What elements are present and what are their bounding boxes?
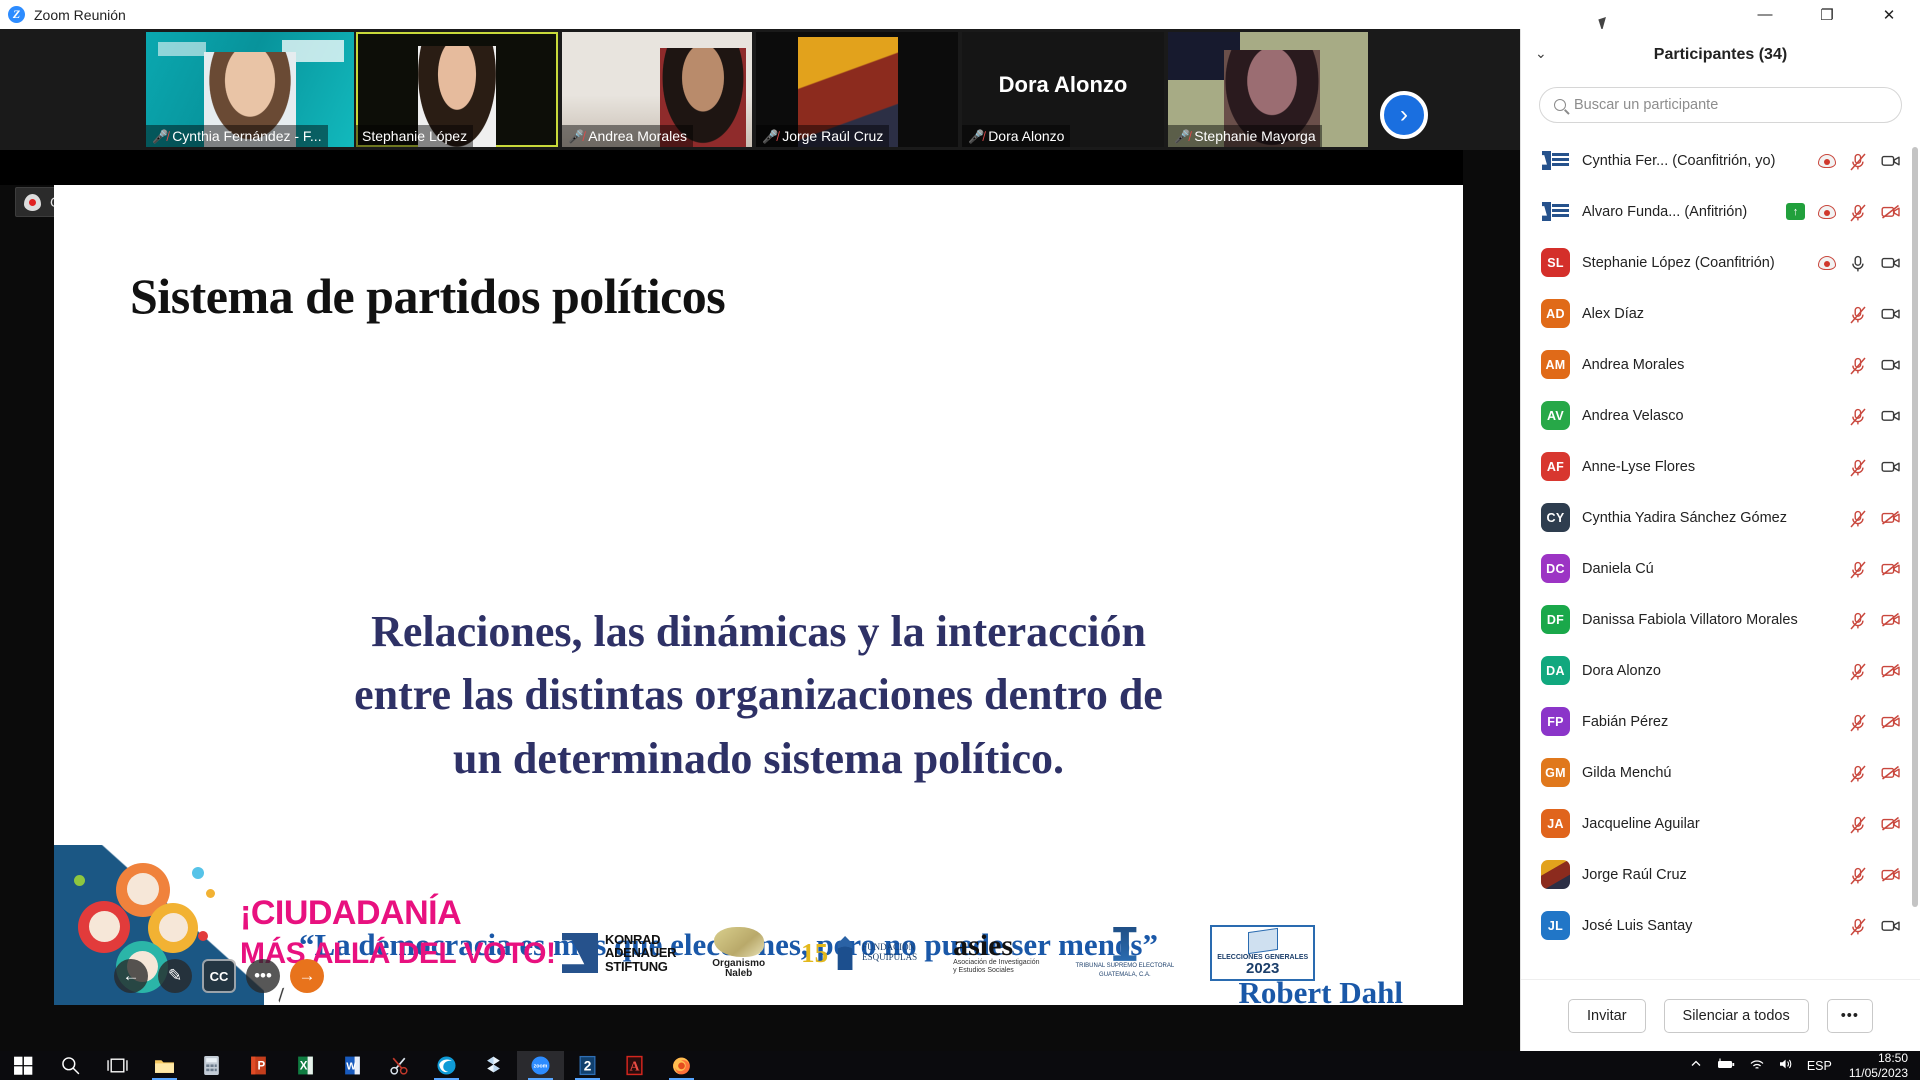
mic-muted-icon[interactable] <box>1849 510 1868 526</box>
camera-on-icon[interactable] <box>1881 255 1900 271</box>
participant-name: Alex Díaz <box>1582 306 1837 322</box>
participant-avatar: DC <box>1541 554 1570 583</box>
camera-off-icon[interactable] <box>1881 612 1900 628</box>
calculator-button[interactable] <box>188 1051 235 1080</box>
participant-name: Stephanie López (Coanfitrión) <box>1582 255 1806 271</box>
invite-button[interactable]: Invitar <box>1568 999 1646 1033</box>
recording-status-icon <box>1818 153 1836 168</box>
excel-icon: X <box>295 1055 316 1076</box>
mic-muted-icon[interactable] <box>1849 561 1868 577</box>
campaign-line-1: ¡CIUDADANÍA <box>240 894 461 933</box>
participant-avatar: AM <box>1541 350 1570 379</box>
esquipulas-line-1: FUNDACIÓN <box>862 942 915 952</box>
close-button[interactable]: ✕ <box>1858 0 1920 29</box>
tile-name-label: 🎤̸ Stephanie Mayorga <box>1168 125 1322 147</box>
participant-name: Fabián Pérez <box>1582 714 1837 730</box>
annotate-pen-button[interactable]: ✎ <box>158 959 192 993</box>
participant-avatar: FP <box>1541 707 1570 736</box>
participant-name: Danissa Fabiola Villatoro Morales <box>1582 612 1837 628</box>
participant-status-icons <box>1818 255 1900 271</box>
language-indicator[interactable]: ESP <box>1807 1059 1832 1073</box>
esquipulas-line-2: ESQUIPULAS <box>862 952 917 962</box>
esquipulas-anniversary-number: 15 <box>801 938 828 969</box>
clock-date: 11/05/2023 <box>1849 1066 1908 1080</box>
meeting-area: 🎤̸ Cynthia Fernández - F... Stephanie Ló… <box>0 29 1520 1051</box>
participant-avatar: AV <box>1541 401 1570 430</box>
camera-on-icon[interactable] <box>1881 153 1900 169</box>
camera-off-icon[interactable] <box>1881 765 1900 781</box>
tile-name-text: Andrea Morales <box>588 128 687 144</box>
tribunal-supremo-electoral-logo: TRIBUNAL SUPREMO ELECTORAL GUATEMALA, C.… <box>1075 925 1174 981</box>
scissors-icon <box>389 1055 410 1076</box>
kas-line-2: ADENAUER <box>605 946 676 959</box>
app-2-button[interactable]: 2 <box>564 1051 611 1080</box>
wifi-icon[interactable] <box>1749 1057 1765 1074</box>
mute-all-button[interactable]: Silenciar a todos <box>1664 999 1809 1033</box>
tile-name-label: 🎤̸ Cynthia Fernández - F... <box>146 125 328 147</box>
search-icon <box>60 1055 81 1076</box>
participant-row[interactable]: GMGilda Menchú <box>1521 747 1920 798</box>
participant-avatar: DA <box>1541 656 1570 685</box>
participant-name: José Luis Santay <box>1582 918 1837 934</box>
zoom-icon: zoom <box>530 1055 551 1076</box>
excel-button[interactable]: X <box>282 1051 329 1080</box>
tile-name-label: 🎤̸ Jorge Raúl Cruz <box>756 125 889 147</box>
svg-text:X: X <box>300 1061 308 1073</box>
word-button[interactable]: W <box>329 1051 376 1080</box>
mic-muted-icon: 🎤̸ <box>1174 130 1190 143</box>
filmstrip-next-button[interactable]: › <box>1380 91 1428 139</box>
participant-avatar: GM <box>1541 758 1570 787</box>
search-button[interactable] <box>47 1051 94 1080</box>
participant-status-icons <box>1818 153 1900 169</box>
slide-title: Sistema de partidos políticos <box>130 267 725 325</box>
kas-mark-icon <box>562 933 598 973</box>
mic-muted-icon[interactable] <box>1849 204 1868 220</box>
recording-status-icon <box>1818 255 1836 270</box>
number-2-icon: 2 <box>577 1055 598 1076</box>
mic-muted-icon: 🎤̸ <box>568 130 584 143</box>
participant-avatar: SL <box>1541 248 1570 277</box>
tile-name-text: Stephanie Mayorga <box>1194 128 1315 144</box>
start-button[interactable] <box>0 1051 47 1080</box>
dropbox-button[interactable] <box>470 1051 517 1080</box>
next-slide-button[interactable]: → <box>290 959 324 993</box>
tile-background-logo-left <box>158 42 206 56</box>
participant-name: Jorge Raúl Cruz <box>1582 867 1837 883</box>
tile-name-label: 🎤̸ Andrea Morales <box>562 125 693 147</box>
participant-name: Cynthia Yadira Sánchez Gómez <box>1582 510 1837 526</box>
battery-icon[interactable] <box>1716 1057 1736 1074</box>
video-tile-cynthia-fernandez[interactable]: 🎤̸ Cynthia Fernández - F... <box>146 32 354 147</box>
asies-line-2: y Estudios Sociales <box>953 967 1039 975</box>
camera-off-icon[interactable] <box>1881 663 1900 679</box>
elecciones-year: 2023 <box>1217 961 1308 976</box>
more-options-button[interactable]: ••• <box>246 959 280 993</box>
asies-logo: asies Asociación de Investigación y Estu… <box>953 925 1039 981</box>
participant-row[interactable]: DCDaniela Cú <box>1521 543 1920 594</box>
participant-status-icons <box>1849 816 1900 832</box>
participant-avatar: CY <box>1541 503 1570 532</box>
participant-status-icons <box>1849 714 1900 730</box>
participant-avatar: AD <box>1541 299 1570 328</box>
participants-list[interactable]: Cynthia Fer... (Coanfitrión, yo) Alvaro … <box>1521 135 1920 979</box>
volume-icon[interactable] <box>1778 1057 1794 1074</box>
mic-muted-icon[interactable] <box>1849 714 1868 730</box>
participant-name: Jacqueline Aguilar <box>1582 816 1837 832</box>
asies-wordmark: asies <box>953 932 1039 959</box>
dropbox-icon <box>483 1055 504 1076</box>
participant-status-icons <box>1849 612 1900 628</box>
video-filmstrip: 🎤̸ Cynthia Fernández - F... Stephanie Ló… <box>0 29 1520 150</box>
zoom-logo-icon: Z <box>8 6 25 23</box>
firefox-button[interactable] <box>658 1051 705 1080</box>
camera-off-icon[interactable] <box>1881 714 1900 730</box>
firefox-icon <box>671 1055 692 1076</box>
mic-muted-icon[interactable] <box>1849 816 1868 832</box>
participant-avatar: JL <box>1541 911 1570 940</box>
ballot-box-icon <box>1248 928 1278 954</box>
participant-name: Gilda Menchú <box>1582 765 1837 781</box>
video-tile-stephanie-lopez[interactable]: Stephanie López <box>356 32 558 147</box>
participants-panel-footer: Invitar Silenciar a todos ••• <box>1521 979 1920 1051</box>
powerpoint-icon: P <box>248 1055 269 1076</box>
participant-row[interactable]: Jorge Raúl Cruz <box>1521 849 1920 900</box>
tile-name-text: Dora Alonzo <box>988 128 1064 144</box>
participants-panel: ⌄ Participantes (34) Cynthia Fer... (Coa… <box>1520 29 1920 1051</box>
windows-taskbar: PXWzoom2A ESP 18:50 11/05/2023 <box>0 1051 1920 1080</box>
tse-line-1: TRIBUNAL SUPREMO ELECTORAL <box>1075 963 1174 970</box>
chevron-down-icon[interactable]: ⌄ <box>1535 45 1547 62</box>
participant-avatar <box>1541 146 1570 175</box>
participant-row[interactable]: Cynthia Fer... (Coanfitrión, yo) <box>1521 135 1920 186</box>
participant-avatar: DF <box>1541 605 1570 634</box>
back-arrow-button[interactable]: ← <box>114 959 148 993</box>
participant-status-icons <box>1849 867 1900 883</box>
tile-name-text: Cynthia Fernández - F... <box>172 128 321 144</box>
tile-name-label: Stephanie López <box>356 125 473 147</box>
asies-line-1: Asociación de Investigación <box>953 959 1039 967</box>
camera-off-icon[interactable] <box>1881 867 1900 883</box>
participant-row[interactable]: AMAndrea Morales <box>1521 339 1920 390</box>
participant-status-icons <box>1849 765 1900 781</box>
shared-screen-slide[interactable]: Sistema de partidos políticos Relaciones… <box>54 185 1463 1005</box>
window-title: Zoom Reunión <box>34 7 126 23</box>
svg-text:P: P <box>257 1061 265 1073</box>
acrobat-button[interactable]: A <box>611 1051 658 1080</box>
participant-search-box[interactable] <box>1539 87 1902 123</box>
camera-on-icon[interactable] <box>1881 459 1900 475</box>
mic-muted-icon[interactable] <box>1849 306 1868 322</box>
windows-logo-icon <box>13 1055 34 1076</box>
mic-muted-icon: 🎤̸ <box>968 130 984 143</box>
video-tile-stephanie-mayorga[interactable]: 🎤̸ Stephanie Mayorga <box>1168 32 1368 147</box>
participant-name: Andrea Morales <box>1582 357 1837 373</box>
show-hidden-icons[interactable] <box>1689 1057 1703 1074</box>
participant-status-icons: ↑ <box>1786 203 1900 220</box>
search-input[interactable] <box>1574 97 1887 113</box>
participant-status-icons <box>1849 408 1900 424</box>
participants-scrollbar[interactable] <box>1912 147 1918 907</box>
camera-on-icon[interactable] <box>1881 306 1900 322</box>
tse-mark-icon <box>1108 927 1142 961</box>
tile-display-name: Dora Alonzo <box>962 72 1164 98</box>
system-tray: ESP 18:50 11/05/2023 <box>1689 1051 1920 1080</box>
participant-status-icons <box>1849 357 1900 373</box>
slide-body: Relaciones, las dinámicas y la interacci… <box>54 600 1463 790</box>
mic-muted-icon[interactable] <box>1849 918 1868 934</box>
acrobat-icon: A <box>624 1055 645 1076</box>
camera-off-icon[interactable] <box>1881 204 1900 220</box>
participant-row[interactable]: DFDanissa Fabiola Villatoro Morales <box>1521 594 1920 645</box>
svg-text:zoom: zoom <box>534 1064 548 1070</box>
edge-icon <box>436 1055 457 1076</box>
participant-status-icons <box>1849 306 1900 322</box>
snipping-tool-button[interactable] <box>376 1051 423 1080</box>
participant-row[interactable]: Alvaro Funda... (Anfitrión)↑ <box>1521 186 1920 237</box>
tile-name-text: Stephanie López <box>362 128 467 144</box>
camera-on-icon[interactable] <box>1881 918 1900 934</box>
camera-off-icon[interactable] <box>1881 510 1900 526</box>
window-controls: — ❐ ✕ <box>1734 0 1920 29</box>
participant-status-icons <box>1849 663 1900 679</box>
word-icon: W <box>342 1055 363 1076</box>
participant-row[interactable]: FPFabián Pérez <box>1521 696 1920 747</box>
participant-row[interactable]: CYCynthia Yadira Sánchez Gómez <box>1521 492 1920 543</box>
window-title-bar: Z Zoom Reunión — ❐ ✕ <box>0 0 1920 29</box>
participant-status-icons <box>1849 459 1900 475</box>
recording-dot-icon <box>24 194 41 211</box>
recording-status-icon <box>1818 204 1836 219</box>
konrad-adenauer-stiftung-logo: KONRAD ADENAUER STIFTUNG <box>562 925 676 981</box>
participant-status-icons <box>1849 918 1900 934</box>
video-tile-andrea-morales[interactable]: 🎤̸ Andrea Morales <box>562 32 752 147</box>
fundacion-esquipulas-logo: 15 FUNDACIÓN ESQUIPULAS <box>801 925 917 981</box>
esquipulas-dome-icon <box>832 936 858 970</box>
svg-text:W: W <box>346 1061 356 1073</box>
mic-muted-icon[interactable] <box>1849 357 1868 373</box>
slide-body-line-2: entre las distintas organizaciones dentr… <box>54 663 1463 726</box>
slide-body-line-1: Relaciones, las dinámicas y la interacci… <box>54 600 1463 663</box>
kas-line-1: KONRAD <box>605 933 676 946</box>
raise-hand-arrow-icon: ↑ <box>1786 203 1805 220</box>
annotation-toolbar: ← ✎ CC ••• → <box>114 959 324 993</box>
clock-time: 18:50 <box>1849 1051 1908 1065</box>
search-icon <box>1554 99 1566 111</box>
minimize-button[interactable]: — <box>1734 0 1796 29</box>
participant-name: Cynthia Fer... (Coanfitrión, yo) <box>1582 153 1806 169</box>
mic-muted-icon: 🎤̸ <box>152 130 168 143</box>
task-view-button[interactable] <box>94 1051 141 1080</box>
participant-row[interactable]: DADora Alonzo <box>1521 645 1920 696</box>
mic-muted-icon[interactable] <box>1849 153 1868 169</box>
elecciones-2023-logo: ELECCIONES GENERALES 2023 <box>1210 925 1315 981</box>
tile-name-text: Jorge Raúl Cruz <box>782 128 883 144</box>
powerpoint-button[interactable]: P <box>235 1051 282 1080</box>
naleb-mark-icon <box>714 927 764 957</box>
zoom-button[interactable]: zoom <box>517 1051 564 1080</box>
participant-avatar: JA <box>1541 809 1570 838</box>
participants-more-button[interactable]: ••• <box>1827 999 1873 1033</box>
participant-row[interactable]: JLJosé Luis Santay <box>1521 900 1920 951</box>
video-tile-jorge-raul-cruz[interactable]: 🎤̸ Jorge Raúl Cruz <box>756 32 958 147</box>
video-tile-dora-alonzo[interactable]: Dora Alonzo 🎤̸ Dora Alonzo <box>962 32 1164 147</box>
mic-muted-icon[interactable] <box>1849 867 1868 883</box>
maximize-button[interactable]: ❐ <box>1796 0 1858 29</box>
participant-avatar <box>1541 860 1570 889</box>
mic-muted-icon[interactable] <box>1849 765 1868 781</box>
closed-captions-button[interactable]: CC <box>202 959 236 993</box>
naleb-line-2: Naleb <box>712 969 765 980</box>
participant-name: Dora Alonzo <box>1582 663 1837 679</box>
organismo-naleb-logo: Organismo Naleb <box>712 925 765 981</box>
participants-panel-header: ⌄ Participantes (34) <box>1521 29 1920 81</box>
participant-name: Anne-Lyse Flores <box>1582 459 1837 475</box>
clock[interactable]: 18:50 11/05/2023 <box>1849 1051 1908 1079</box>
slide-body-line-3: un determinado sistema político. <box>54 727 1463 790</box>
participant-row[interactable]: AFAnne-Lyse Flores <box>1521 441 1920 492</box>
participant-row[interactable]: SLStephanie López (Coanfitrión) <box>1521 237 1920 288</box>
camera-off-icon[interactable] <box>1881 561 1900 577</box>
participant-avatar: AF <box>1541 452 1570 481</box>
mic-muted-icon[interactable] <box>1849 612 1868 628</box>
svg-text:2: 2 <box>584 1059 592 1074</box>
participant-name: Andrea Velasco <box>1582 408 1837 424</box>
participant-name: Alvaro Funda... (Anfitrión) <box>1582 204 1774 220</box>
sponsor-logos: KONRAD ADENAUER STIFTUNG Organismo Naleb… <box>562 925 1315 981</box>
mic-muted-icon: 🎤̸ <box>762 130 778 143</box>
svg-text:A: A <box>630 1059 640 1074</box>
camera-off-icon[interactable] <box>1881 816 1900 832</box>
mic-muted-icon[interactable] <box>1849 663 1868 679</box>
participants-panel-title: Participantes (34) <box>1654 46 1787 64</box>
participant-row[interactable]: AVAndrea Velasco <box>1521 390 1920 441</box>
tse-line-2: GUATEMALA, C.A. <box>1075 972 1174 979</box>
mic-on-icon[interactable] <box>1849 255 1868 271</box>
recording-bar-background <box>0 150 1463 185</box>
participant-status-icons <box>1849 510 1900 526</box>
folder-icon <box>154 1055 175 1076</box>
participant-name: Daniela Cú <box>1582 561 1837 577</box>
participant-row[interactable]: JAJacqueline Aguilar <box>1521 798 1920 849</box>
participant-status-icons <box>1849 561 1900 577</box>
task-view-icon <box>107 1055 128 1076</box>
edge-button[interactable] <box>423 1051 470 1080</box>
participant-row[interactable]: ADAlex Díaz <box>1521 288 1920 339</box>
file-explorer-button[interactable] <box>141 1051 188 1080</box>
mic-muted-icon[interactable] <box>1849 408 1868 424</box>
tile-name-label: 🎤̸ Dora Alonzo <box>962 125 1070 147</box>
camera-on-icon[interactable] <box>1881 408 1900 424</box>
camera-on-icon[interactable] <box>1881 357 1900 373</box>
kas-line-3: STIFTUNG <box>605 960 676 973</box>
participant-avatar <box>1541 197 1570 226</box>
calculator-icon <box>201 1055 222 1076</box>
mic-muted-icon[interactable] <box>1849 459 1868 475</box>
